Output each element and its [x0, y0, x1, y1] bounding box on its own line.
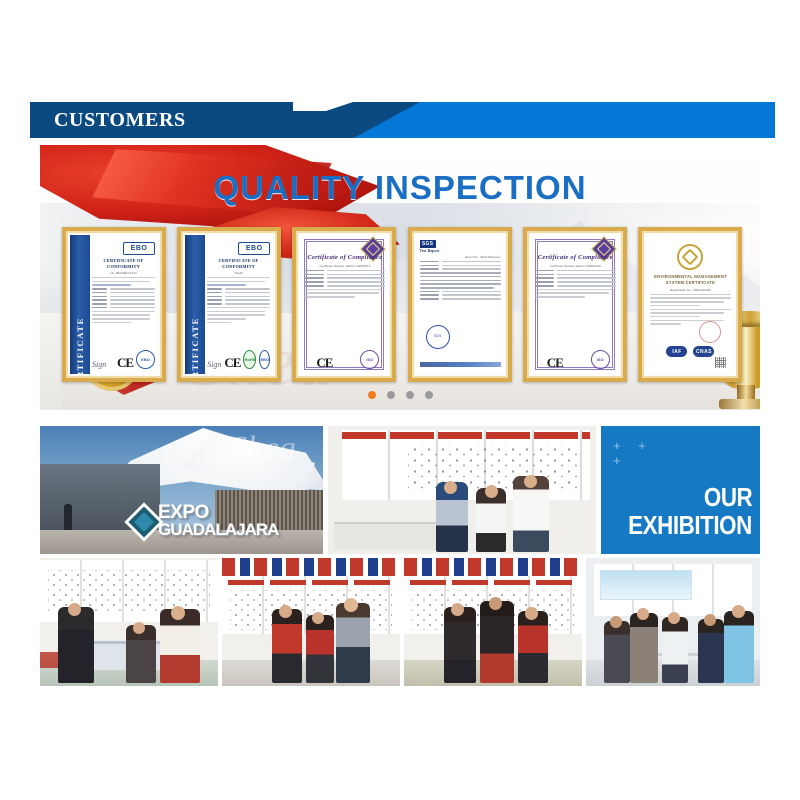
- carousel-dot-4[interactable]: [425, 391, 433, 399]
- certificate-subheading: Registration No.: 00000 E0000: [650, 288, 731, 292]
- certificate-sidebar: CERTIFICATE: [70, 235, 90, 374]
- section-header: CUSTOMERS: [30, 102, 775, 138]
- carousel-dots[interactable]: [40, 391, 760, 399]
- quality-inspection-banner: QUALITY INSPECTION Shea CERTIFICATE EBO …: [40, 145, 760, 410]
- certificate-sidebar-label: CERTIFICATE: [190, 305, 200, 374]
- certificate-body-text: [207, 277, 270, 323]
- rohs-seal-icon: RoHS: [243, 350, 256, 369]
- our-exhibition-line1: OUR: [704, 484, 752, 510]
- cnas-badge-icon: CNAS: [693, 346, 714, 357]
- ce-mark-icon: CE: [547, 356, 563, 369]
- our-exhibition-panel: + + + OUR EXHIBITION: [601, 426, 760, 554]
- sgs-stamp-icon: SGS: [426, 325, 450, 349]
- ce-mark-icon: CE: [224, 356, 240, 369]
- certificate-sidebar-label: CERTIFICATE: [75, 305, 85, 374]
- certificate-card[interactable]: CERTIFICATE EBO CERTIFICATE OF CONFORMIT…: [177, 227, 281, 382]
- certificate-row: CERTIFICATE EBO CERTIFICATE OF CONFORMIT…: [62, 227, 742, 382]
- signature-icon: Sign: [92, 360, 106, 369]
- certificate-card[interactable]: ENVIRONMENTAL MANAGEMENT SYSTEM CERTIFIC…: [638, 227, 742, 382]
- our-exhibition-line2: EXHIBITION: [628, 512, 752, 538]
- ebo-seal-icon: EBO: [259, 350, 270, 369]
- carousel-dot-2[interactable]: [387, 391, 395, 399]
- ce-mark-icon: CE: [117, 356, 133, 369]
- compliance-seal-icon: ISO: [591, 350, 610, 369]
- expo-logotype: EXPO GUADALAJARA: [158, 504, 278, 538]
- certificate-body-text: [304, 270, 385, 298]
- accreditation-badges: IAF CNAS: [650, 346, 731, 357]
- plus-decoration-icon: + + +: [613, 438, 673, 472]
- exhibition-photo-flag-booth-2[interactable]: [404, 558, 582, 686]
- ebo-seal-icon: EBO: [136, 350, 155, 369]
- expo-logotype-line2: GUADALAJARA: [158, 522, 278, 538]
- certificate-sidebar: CERTIFICATE: [185, 235, 205, 374]
- certificate-heading: CERTIFICATE OF CONFORMITY: [207, 258, 270, 270]
- certificate-marks: CE ISO: [535, 350, 616, 369]
- certificate-heading: Test Report: [420, 249, 501, 254]
- exhibition-photo-crowd[interactable]: [586, 558, 760, 686]
- carousel-dot-1[interactable]: [368, 391, 376, 399]
- certificate-card[interactable]: SGS Test Report Report No.: SZHL1604xxxx…: [408, 227, 512, 382]
- exhibition-photo-booth-staff[interactable]: [328, 426, 596, 554]
- exhibition-photo-flag-booth-1[interactable]: [222, 558, 400, 686]
- certificate-marks: Sign CE RoHS EBO: [207, 350, 270, 369]
- certificate-subheading: Certificate Number: EE/CC-6483/2016: [304, 264, 385, 268]
- sgs-logo: SGS: [420, 240, 436, 248]
- certificate-subheading: RoHS: [207, 271, 270, 275]
- certificate-card[interactable]: CERTIFICATE EBO CERTIFICATE OF CONFORMIT…: [62, 227, 166, 382]
- qr-code-icon: [715, 357, 726, 368]
- certificate-body-text: [420, 261, 501, 300]
- signature-icon: Sign: [207, 360, 221, 369]
- certificate-heading: CERTIFICATE OF CONFORMITY: [92, 258, 155, 270]
- certificate-heading: Certificate of Compliance: [535, 254, 616, 263]
- certificate-heading: Certificate of Compliance: [304, 254, 385, 263]
- section-title: CUSTOMERS: [54, 102, 186, 138]
- page-root: CUSTOMERS QUALITY INSPECTION Shea: [0, 0, 800, 800]
- expo-guadalajara-photo[interactable]: EXPO GUADALAJARA Shea: [40, 426, 323, 554]
- ce-mark-icon: CE: [316, 356, 332, 369]
- certificate-body-text: [535, 270, 616, 298]
- ebo-logo: EBO: [123, 242, 155, 255]
- iso-emblem-icon: [677, 244, 703, 270]
- certificate-subheading: Report No.: SZHL1604xxxxx: [420, 255, 501, 259]
- certificate-card[interactable]: Certificate of Compliance Certificate Nu…: [292, 227, 396, 382]
- certificate-subheading: Certificate Number: EE/CC-6485/2016: [535, 264, 616, 268]
- red-stamp-icon: [699, 321, 721, 343]
- certificate-subheading: No. BE/CB/07-1973: [92, 271, 155, 275]
- compliance-seal-icon: ISO: [360, 350, 379, 369]
- iaf-badge-icon: IAF: [666, 346, 687, 357]
- quality-inspection-title: QUALITY INSPECTION: [40, 169, 760, 207]
- exhibition-photo-meeting[interactable]: [40, 558, 218, 686]
- carousel-dot-3[interactable]: [406, 391, 414, 399]
- certificate-marks: Sign CE EBO: [92, 350, 155, 369]
- ebo-logo: EBO: [238, 242, 270, 255]
- certificate-heading: ENVIRONMENTAL MANAGEMENT SYSTEM CERTIFIC…: [650, 274, 731, 286]
- certificate-marks: CE ISO: [304, 350, 385, 369]
- certificate-body-text: [650, 294, 731, 325]
- certificate-body-text: [92, 277, 155, 323]
- sgs-footer-bar: [420, 362, 501, 367]
- certificate-card[interactable]: Certificate of Compliance Certificate Nu…: [523, 227, 627, 382]
